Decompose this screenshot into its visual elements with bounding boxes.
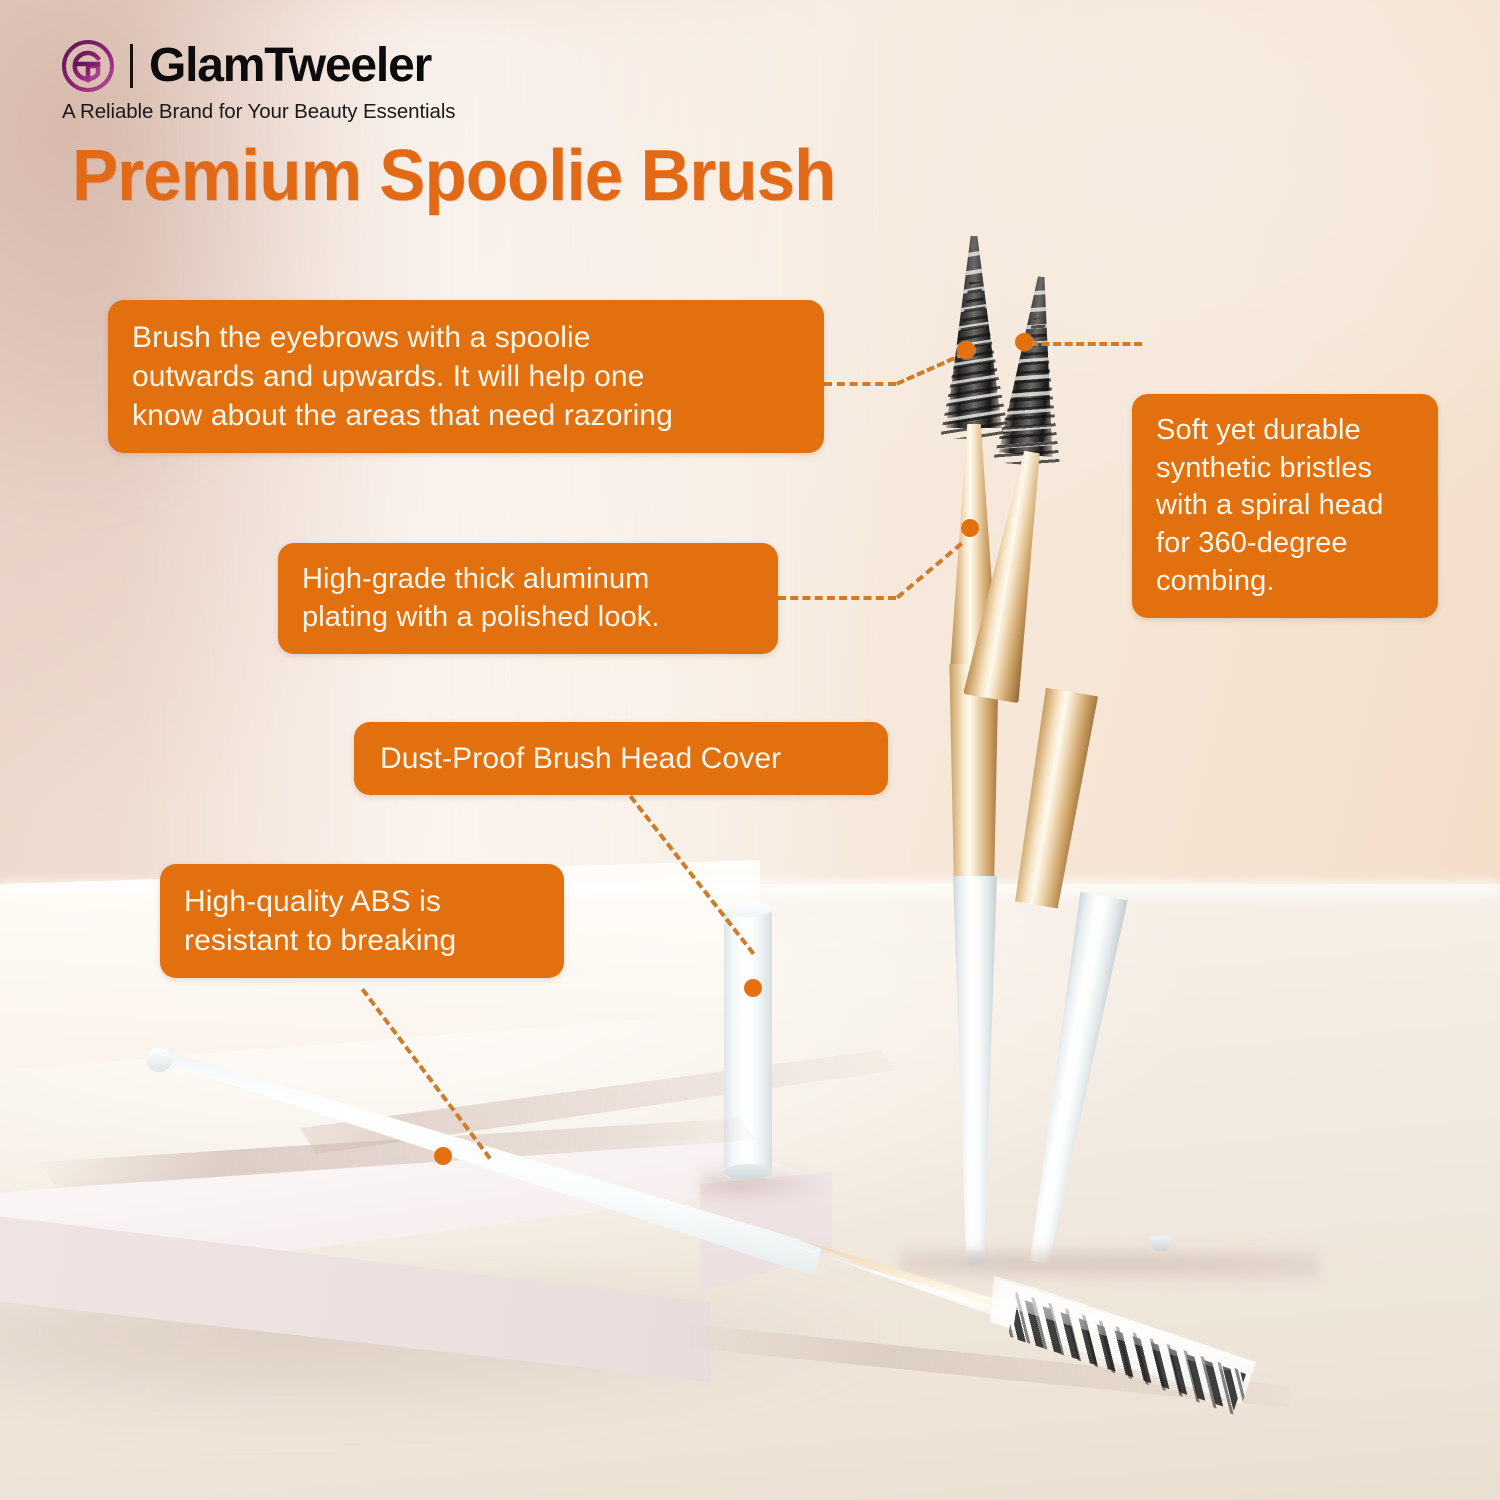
callout-soft-bristles[interactable]: Soft yet durable synthetic bristles with… [1132,394,1438,618]
product-infographic-stage: Brush the eyebrows with a spoolie outwar… [0,0,1500,1500]
callout-brush-eyebrows-text: Brush the eyebrows with a spoolie outwar… [132,318,800,435]
callout-brush-eyebrows[interactable]: Brush the eyebrows with a spoolie outwar… [108,300,824,453]
connector-line-brush-eyebrows [824,382,896,386]
lying-brush-handle-tip [146,1048,172,1072]
header-divider [130,44,133,88]
brand-header: GlamTweeler A Reliable Brand for Your Be… [62,40,455,124]
brand-name: GlamTweeler [149,42,431,90]
page-title: Premium Spoolie Brush [72,140,835,212]
callout-abs-resistant-text: High-quality ABS is resistant to breakin… [184,882,540,960]
callout-dust-proof-cover[interactable]: Dust-Proof Brush Head Cover [354,722,888,795]
callout-abs-resistant[interactable]: High-quality ABS is resistant to breakin… [160,864,564,978]
dust-cap-top-ellipse [724,901,772,917]
connector-line-soft-bristles [1030,342,1142,346]
gt-monogram-icon [62,40,114,92]
connector-line-aluminum [778,596,896,600]
callout-aluminum-plating[interactable]: High-grade thick aluminum plating with a… [278,543,778,654]
connector-dot-dust-cover [744,979,762,997]
brand-tagline: A Reliable Brand for Your Beauty Essenti… [62,100,455,124]
connector-dot-brush-eyebrows [957,341,975,359]
connector-dot-soft-bristles [1015,333,1033,351]
spoolie-brush-lying [150,1040,1270,1460]
callout-aluminum-plating-text: High-grade thick aluminum plating with a… [302,561,754,636]
callout-soft-bristles-text: Soft yet durable synthetic bristles with… [1156,412,1414,600]
callout-dust-proof-cover-text: Dust-Proof Brush Head Cover [380,739,862,778]
brush-ferrule-right-lower [1007,687,1102,910]
connector-dot-aluminum [961,519,979,537]
connector-dot-abs [434,1147,452,1165]
lying-brush-handle [150,1050,830,1300]
